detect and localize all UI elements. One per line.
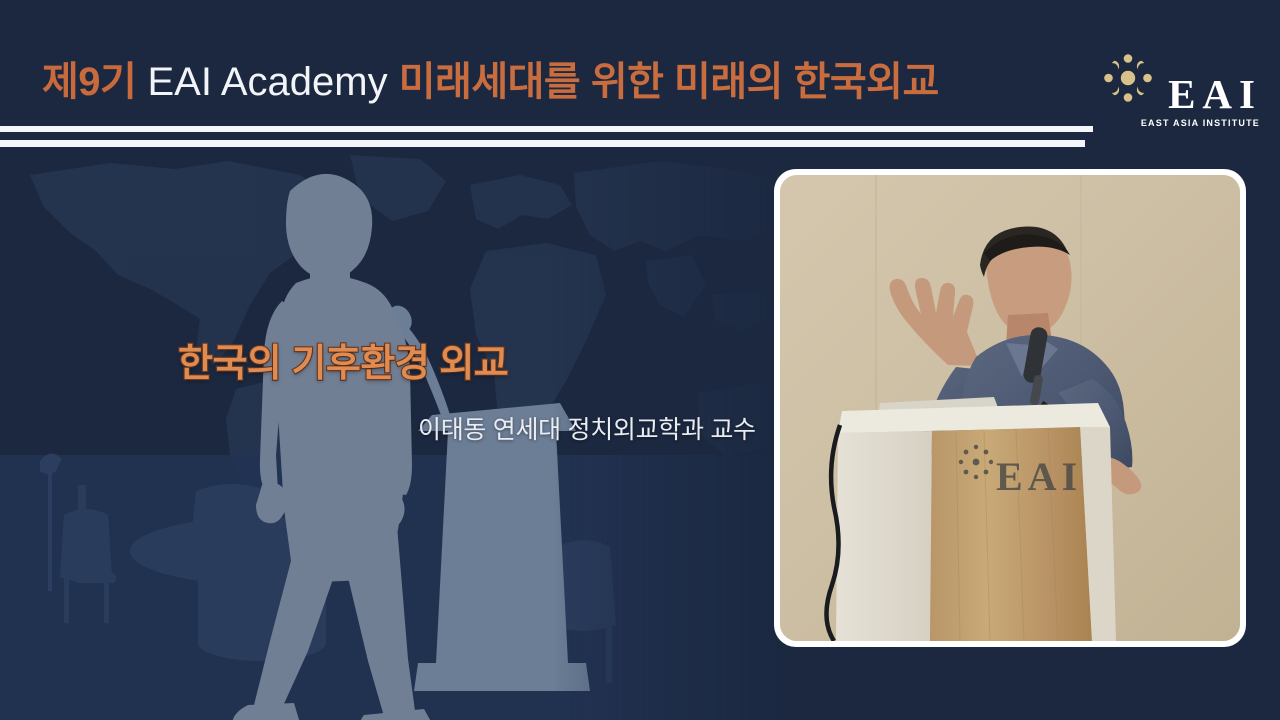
slide-header: 제9기 EAI Academy 미래세대를 위한 미래의 한국외교 (0, 0, 1280, 158)
speaker-photo-frame: EAI (774, 169, 1246, 647)
eai-logo-name: EAI (1141, 74, 1262, 115)
presentation-slide: 제9기 EAI Academy 미래세대를 위한 미래의 한국외교 (0, 0, 1280, 720)
eai-logo-text: EAI EAST ASIA INSTITUTE (1141, 74, 1262, 128)
program-prefix: 제9기 (42, 60, 136, 104)
eai-logo-tagline: EAST ASIA INSTITUTE (1141, 119, 1260, 128)
header-divider-top (0, 126, 1093, 132)
svg-text:EAI: EAI (996, 454, 1082, 499)
program-name: EAI Academy (147, 60, 387, 104)
eai-logo: EAI EAST ASIA INSTITUTE (1092, 48, 1262, 134)
program-title: 제9기 EAI Academy 미래세대를 위한 미래의 한국외교 (42, 62, 939, 102)
speaker-photo: EAI (780, 175, 1240, 641)
podium: EAI (826, 397, 1116, 641)
lecture-title: 한국의 기후환경 외교 (178, 332, 508, 387)
program-theme: 미래세대를 위한 미래의 한국외교 (399, 60, 939, 104)
speaker-name-and-affiliation: 이태동 연세대 정치외교학과 교수 (418, 410, 756, 446)
header-divider-bottom (0, 140, 1085, 147)
